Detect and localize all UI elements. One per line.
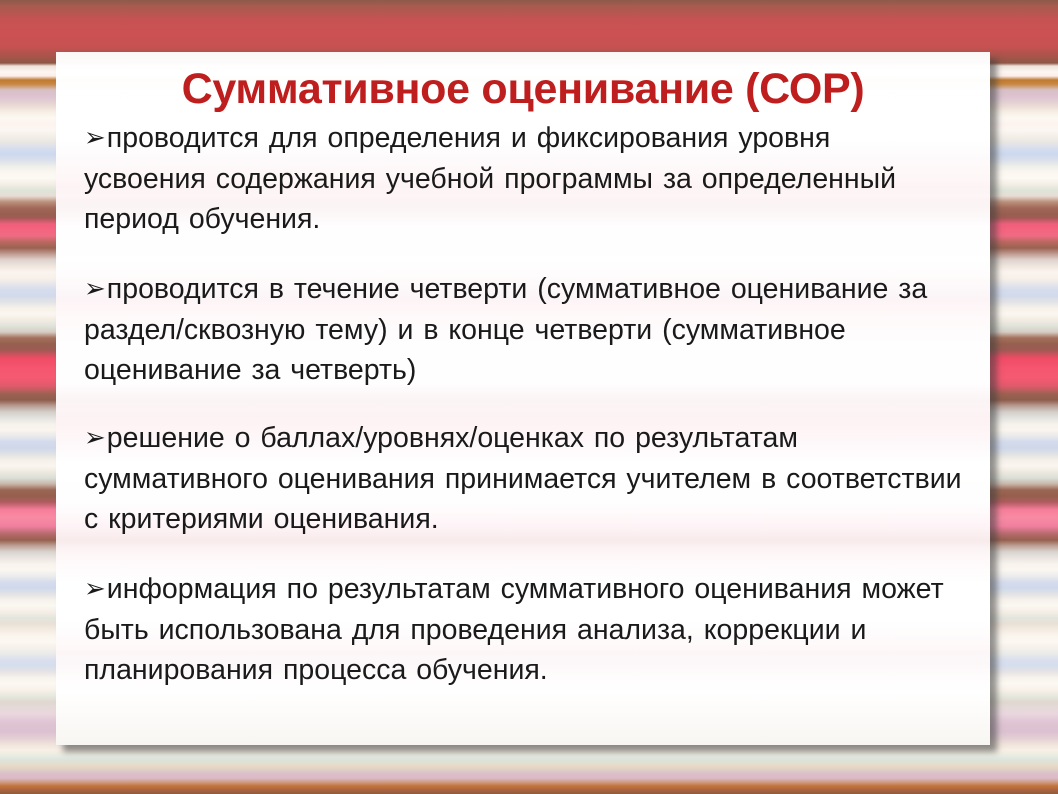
arrowhead-bullet-icon: ➢ (84, 118, 106, 158)
content-panel: Суммативное оценивание (СОР) ➢проводится… (56, 52, 990, 745)
page-title: Суммативное оценивание (СОР) (84, 62, 962, 118)
arrowhead-bullet-icon: ➢ (84, 418, 106, 458)
panel-inner: Суммативное оценивание (СОР) ➢проводится… (56, 52, 990, 745)
arrowhead-bullet-icon: ➢ (84, 569, 106, 609)
slide-canvas: Суммативное оценивание (СОР) ➢проводится… (0, 0, 1058, 794)
list-item-text: проводится для определения и фиксировани… (84, 122, 896, 235)
list-item: ➢информация по результатам суммативного … (84, 569, 962, 690)
list-item: ➢решение о баллах/уровнях/оценках по рез… (84, 418, 962, 539)
list-item-text: проводится в течение четверти (суммативн… (84, 273, 927, 386)
list-item: ➢проводится в течение четверти (сумматив… (84, 269, 962, 390)
arrowhead-bullet-icon: ➢ (84, 269, 106, 309)
bullet-list: ➢проводится для определения и фиксирован… (84, 118, 962, 690)
list-item-text: информация по результатам суммативного о… (84, 573, 944, 686)
list-item: ➢проводится для определения и фиксирован… (84, 118, 962, 239)
list-item-text: решение о баллах/уровнях/оценках по резу… (84, 422, 962, 535)
